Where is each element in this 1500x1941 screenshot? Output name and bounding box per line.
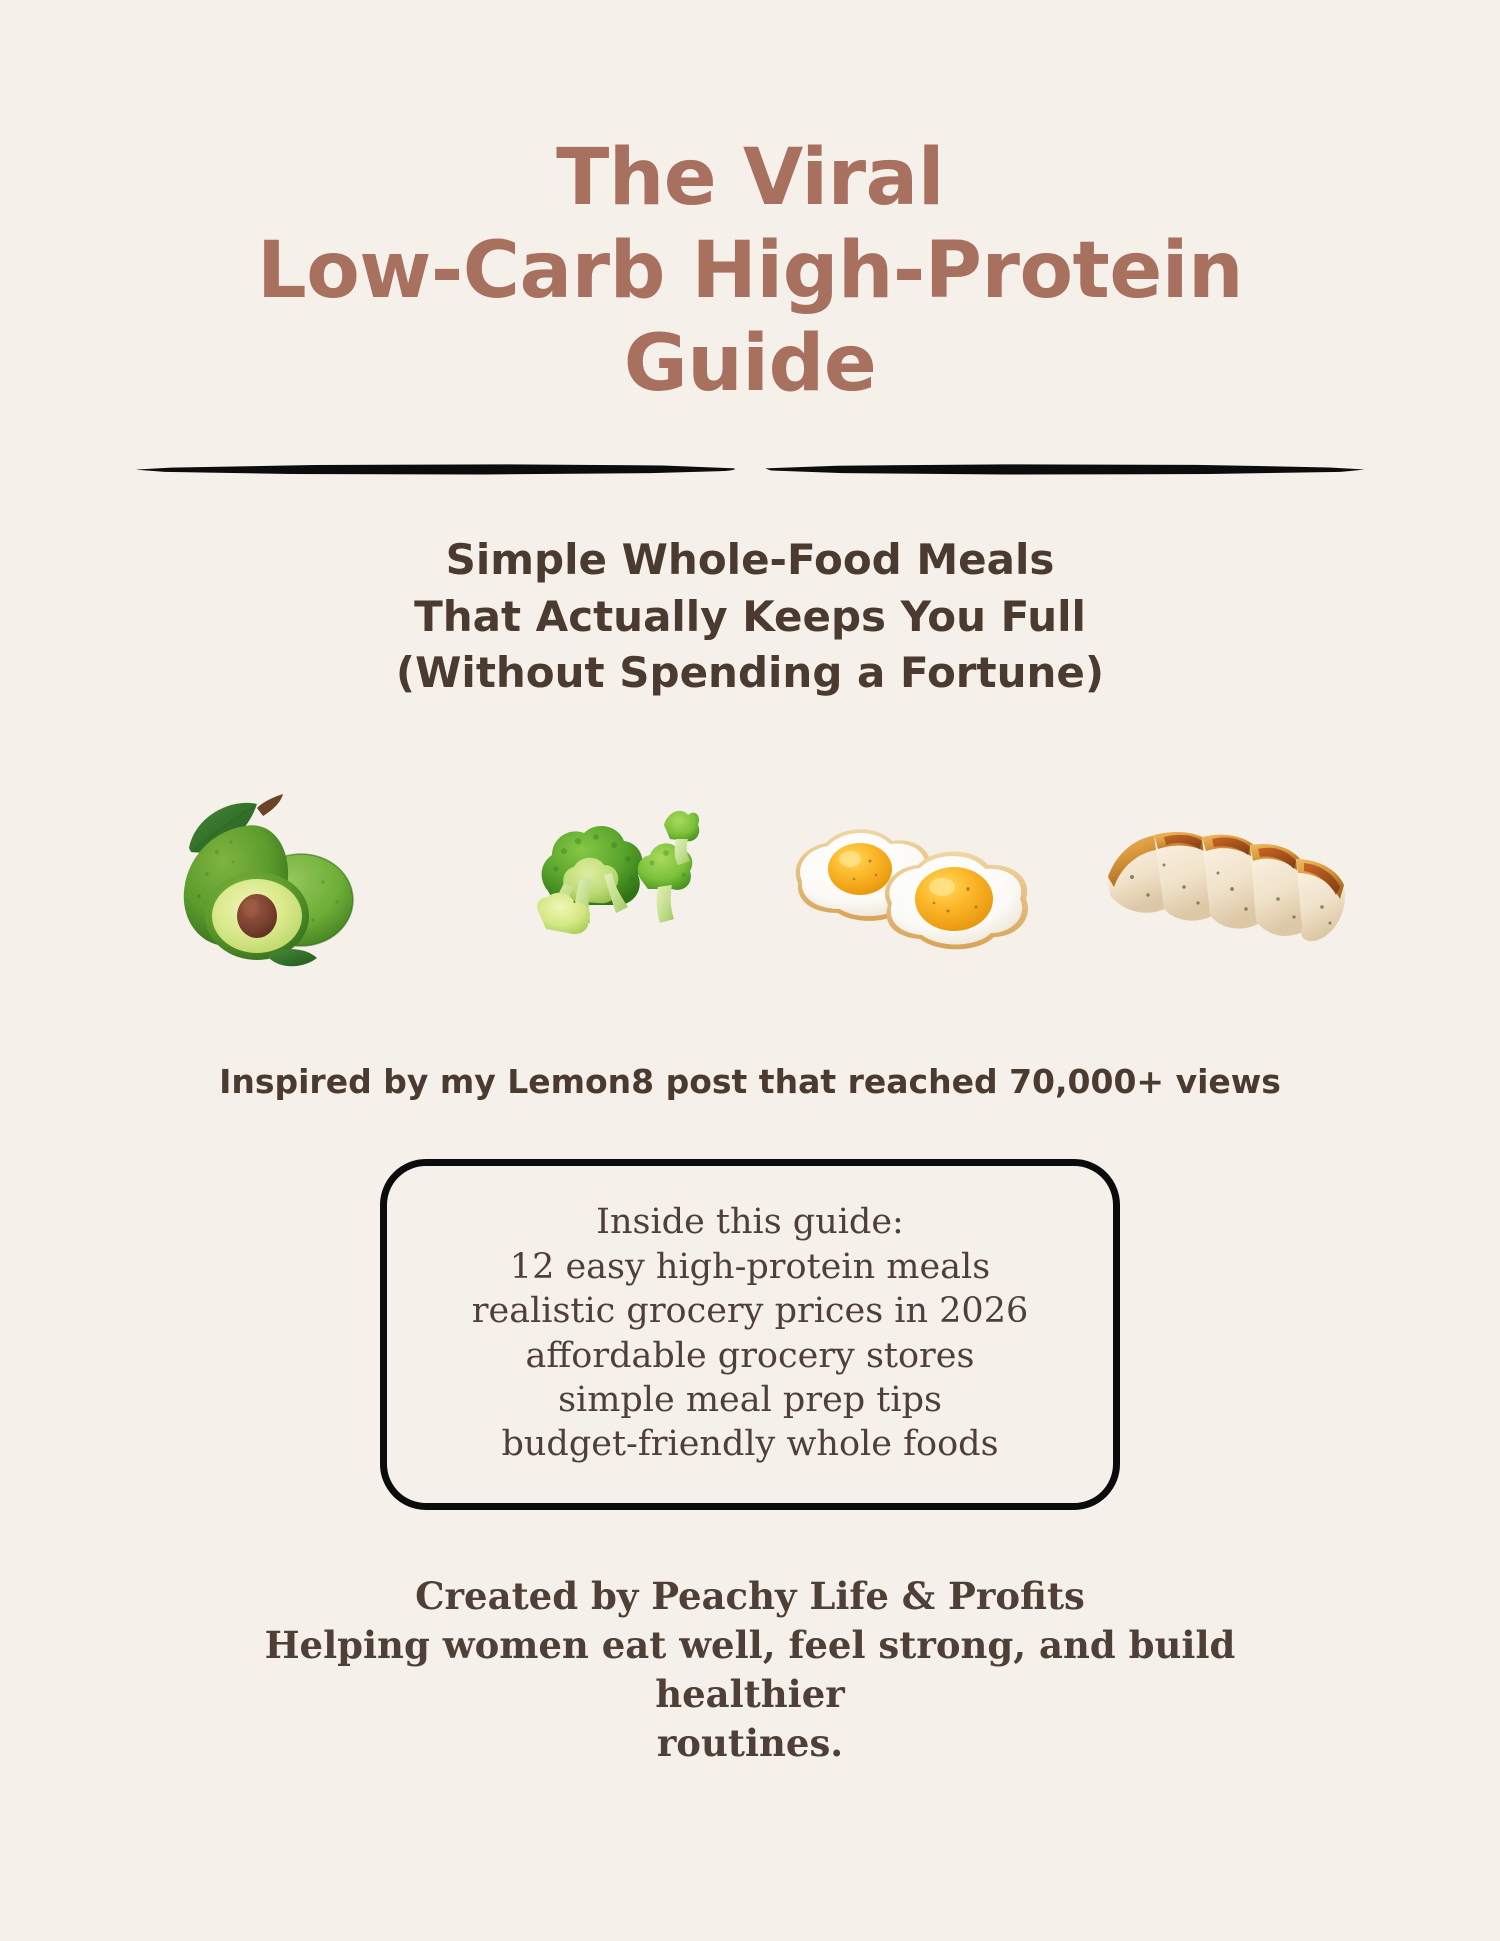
guide-box-heading: Inside this guide: bbox=[417, 1200, 1083, 1244]
credit-author: Created by Peachy Life & Profits bbox=[200, 1572, 1300, 1621]
grilled-chicken-icon bbox=[1102, 803, 1352, 963]
food-image-row bbox=[145, 775, 1355, 990]
fried-eggs-icon bbox=[782, 803, 1037, 963]
guide-box-item: budget-friendly whole foods bbox=[417, 1422, 1083, 1466]
credits: Created by Peachy Life & Profits Helping… bbox=[200, 1572, 1300, 1769]
subtitle-line-3: (Without Spending a Fortune) bbox=[396, 645, 1104, 701]
divider-stroke-left bbox=[135, 463, 735, 476]
divider-stroke-right bbox=[765, 463, 1365, 476]
guide-box-item: 12 easy high-protein meals bbox=[417, 1245, 1083, 1289]
guide-box-item: simple meal prep tips bbox=[417, 1378, 1083, 1422]
subtitle: Simple Whole-Food Meals That Actually Ke… bbox=[396, 532, 1104, 701]
fried-eggs-image bbox=[782, 775, 1037, 990]
divider bbox=[135, 458, 1365, 480]
avocado-image bbox=[145, 775, 400, 990]
guide-box-item: affordable grocery stores bbox=[417, 1334, 1083, 1378]
inside-this-guide-box: Inside this guide: 12 easy high-protein … bbox=[380, 1159, 1120, 1510]
broccoli-image bbox=[463, 775, 718, 990]
avocado-icon bbox=[173, 790, 373, 975]
title-line-2: Low-Carb High-Protein bbox=[170, 225, 1330, 318]
subtitle-line-2: That Actually Keeps You Full bbox=[396, 589, 1104, 645]
credit-tagline-2: routines. bbox=[200, 1719, 1300, 1768]
guide-box-item: realistic grocery prices in 2026 bbox=[417, 1289, 1083, 1333]
inspired-by-text: Inspired by my Lemon8 post that reached … bbox=[219, 1062, 1281, 1101]
title-line-3: Guide bbox=[170, 318, 1330, 411]
page-title: The Viral Low-Carb High-Protein Guide bbox=[170, 132, 1330, 410]
grilled-chicken-image bbox=[1100, 775, 1355, 990]
broccoli-icon bbox=[478, 795, 703, 970]
credit-tagline-1: Helping women eat well, feel strong, and… bbox=[200, 1621, 1300, 1719]
subtitle-line-1: Simple Whole-Food Meals bbox=[396, 532, 1104, 588]
title-line-1: The Viral bbox=[170, 132, 1330, 225]
poster-page: The Viral Low-Carb High-Protein Guide Si… bbox=[0, 0, 1500, 1941]
